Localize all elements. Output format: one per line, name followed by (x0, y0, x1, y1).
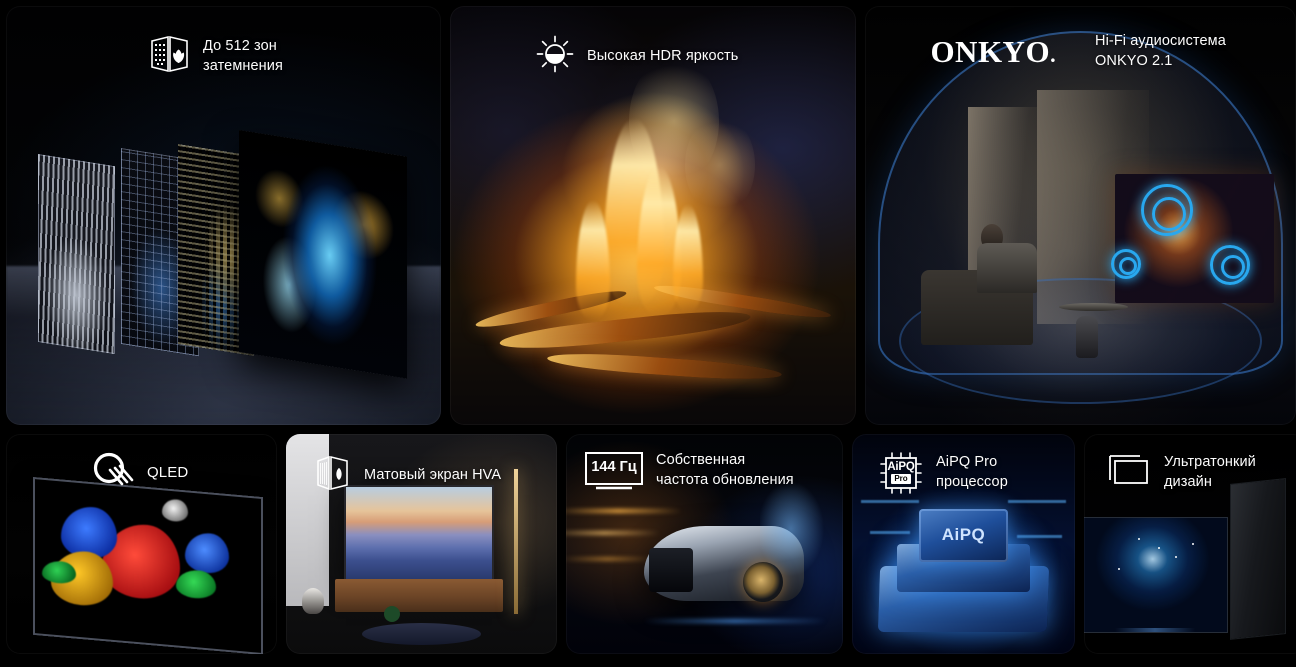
chip-icon-title: AiPQ (878, 461, 924, 473)
feature-header: Высокая HDR яркость (535, 34, 738, 79)
tv-side-profile (1231, 480, 1285, 640)
feature-header: Ультратонкий дизайн (1106, 450, 1256, 495)
reflection (1115, 628, 1195, 632)
feature-grid: До 512 зон затемнения (0, 0, 1296, 667)
feature-card-hdr-brightness[interactable]: Высокая HDR яркость (450, 6, 856, 425)
chip-icon-badge: Pro (891, 474, 911, 484)
feature-card-onkyo-audio[interactable]: ONKYO . Hi-Fi аудиосистема ONKYO 2.1 (865, 6, 1296, 425)
circuit-trace (1017, 535, 1062, 538)
feature-row-top: До 512 зон затемнения (6, 6, 1290, 425)
tv-screen (1084, 518, 1227, 632)
viewer-body (977, 243, 1037, 293)
matte-screen-panel-icon (314, 452, 352, 499)
tv-screen (33, 477, 263, 654)
feature-card-aipq-pro[interactable]: AiPQ AiPQ Pro AiPQ (852, 434, 1075, 654)
feature-header: Матовый экран HVA (314, 452, 501, 499)
credenza (335, 579, 503, 612)
ultra-slim-design-icon (1106, 450, 1152, 495)
car-grille (649, 548, 693, 592)
circuit-trace (861, 500, 919, 503)
circuit-trace (870, 531, 910, 534)
onkyo-logo: ONKYO . (917, 34, 1069, 70)
feature-card-refresh-rate[interactable]: 144 Гц Собственная частота обновления (566, 434, 843, 654)
flame (673, 204, 703, 312)
feature-label: Hi-Fi аудиосистема ONKYO 2.1 (1095, 32, 1226, 71)
plant (384, 606, 400, 622)
light-streak (566, 509, 682, 513)
feature-card-qled[interactable]: QLED (6, 434, 277, 654)
refresh-rate-value: 144 Гц (584, 450, 644, 484)
feature-label: AiPQ Pro процессор (936, 453, 1008, 492)
feature-label: Собственная частота обновления (656, 451, 794, 490)
feature-card-ultra-slim[interactable]: Ультратонкий дизайн (1084, 434, 1296, 654)
feature-header: До 512 зон затемнения (149, 32, 283, 81)
feature-label: QLED (147, 463, 188, 483)
feature-row-bottom: QLED (6, 434, 1290, 654)
processor-chip-icon: AiPQ Pro (878, 450, 924, 496)
chip-die: AiPQ (919, 509, 1008, 562)
coffee-table (362, 623, 481, 645)
feature-label: Матовый экран HVA (364, 466, 501, 486)
table-lamp (302, 588, 324, 614)
onkyo-logo-text: ONKYO (930, 34, 1050, 70)
sound-wave-ring (1152, 197, 1186, 231)
feature-header: 144 Гц Собственная частота обновления (584, 450, 794, 492)
circuit-trace (1008, 500, 1066, 503)
feature-header: AiPQ Pro AiPQ Pro процессор (878, 450, 1008, 496)
log (547, 350, 783, 383)
tv-screen (1115, 174, 1274, 304)
panel-layer-final-image (239, 130, 407, 379)
light-streak (566, 557, 655, 561)
brightness-sun-icon (535, 34, 575, 79)
feature-card-local-dimming[interactable]: До 512 зон затемнения (6, 6, 441, 425)
sound-wave-ring (1221, 255, 1245, 279)
feature-header: QLED (89, 450, 188, 497)
dimming-zones-panel-icon (149, 32, 191, 81)
light-streak (566, 531, 660, 535)
qled-q-logo (89, 450, 135, 497)
floor-lamp (514, 469, 518, 614)
tv-screen (346, 487, 492, 579)
feature-label: Высокая HDR яркость (587, 47, 738, 67)
table-stand (1076, 316, 1098, 358)
onkyo-logo-dot: . (1050, 42, 1056, 68)
panel-layer-1 (38, 154, 115, 354)
bird (162, 498, 188, 522)
light-streak (644, 619, 827, 623)
feature-label: Ультратонкий дизайн (1164, 453, 1256, 492)
sparks (685, 115, 755, 215)
feature-card-matte-hva[interactable]: Матовый экран HVA (286, 434, 557, 654)
feature-label: До 512 зон затемнения (203, 37, 283, 76)
feature-header: ONKYO . Hi-Fi аудиосистема ONKYO 2.1 (917, 32, 1226, 71)
tv-frame-icon: 144 Гц (584, 450, 644, 492)
flower-blue (185, 531, 229, 575)
